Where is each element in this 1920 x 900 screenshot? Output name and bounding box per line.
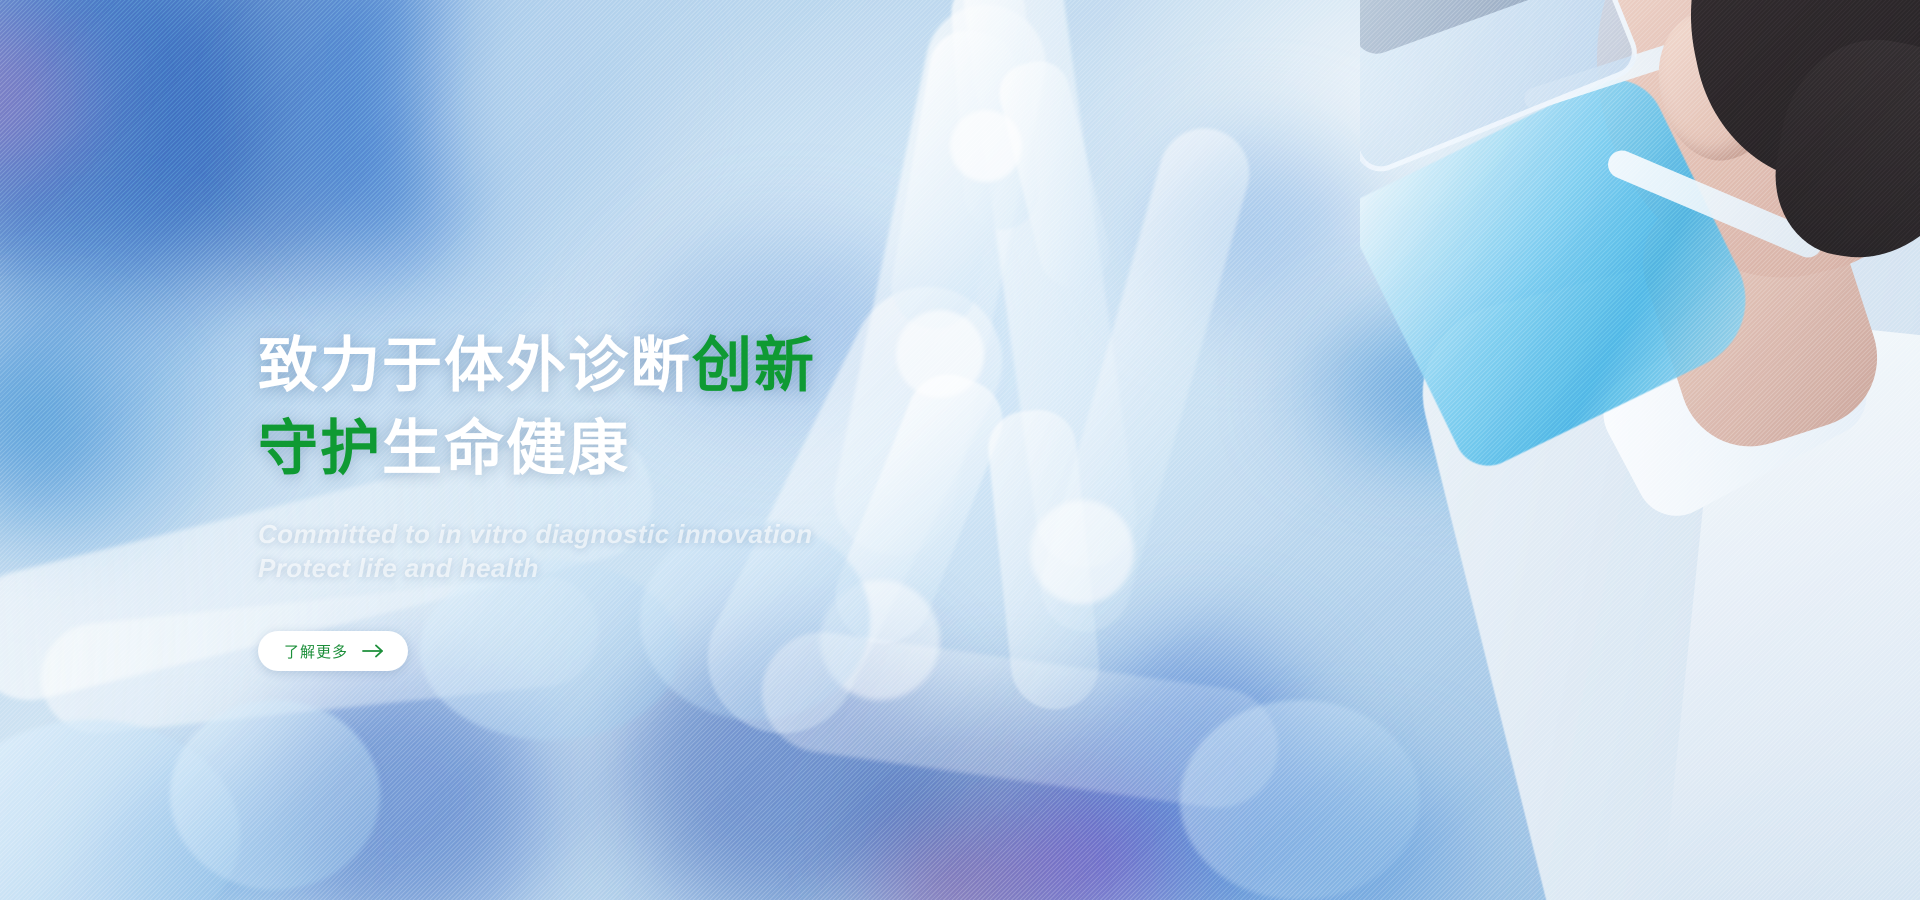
- subtitle-line-1: Committed to in vitro diagnostic innovat…: [258, 517, 1158, 551]
- headline-line-1: 致力于体外诊断创新: [258, 325, 1158, 408]
- page-title: 致力于体外诊断创新 守护生命健康: [258, 325, 1158, 491]
- hero-subtitle: Committed to in vitro diagnostic innovat…: [258, 517, 1158, 586]
- learn-more-button[interactable]: 了解更多: [258, 631, 408, 671]
- headline-line2-accent: 守护: [258, 415, 382, 482]
- arrow-right-icon: [362, 644, 384, 658]
- subtitle-line-2: Protect life and health: [258, 551, 1158, 585]
- headline-line-2: 守护生命健康: [258, 408, 1158, 491]
- headline-line1-white: 致力于体外诊断: [258, 332, 692, 399]
- headline-line1-accent: 创新: [692, 332, 816, 399]
- hero-banner: 致力于体外诊断创新 守护生命健康 Committed to in vitro d…: [0, 0, 1920, 900]
- hero-content: 致力于体外诊断创新 守护生命健康 Committed to in vitro d…: [258, 325, 1158, 671]
- scientist-figure: [1360, 0, 1920, 900]
- headline-line2-white: 生命健康: [382, 415, 630, 482]
- learn-more-label: 了解更多: [284, 641, 348, 662]
